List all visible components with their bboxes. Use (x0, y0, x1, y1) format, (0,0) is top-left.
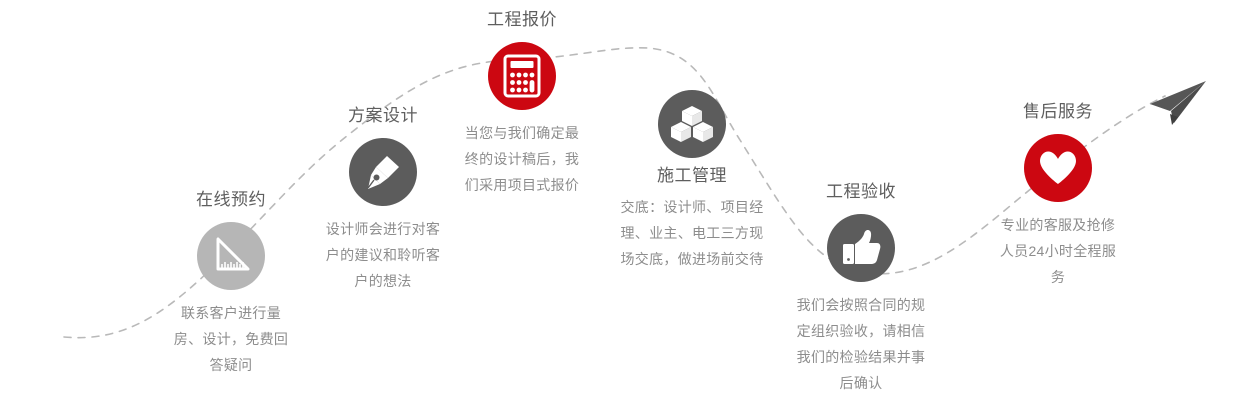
step-4-icon-badge[interactable] (658, 90, 726, 158)
step-4-desc-line: 理、业主、电工三方现 (597, 220, 787, 246)
step-3-desc-line: 当您与我们确定最 (427, 120, 617, 146)
process-step-5[interactable]: 工程验收 我们会按照合同的规 定组织验收，请相信 我们的检验结果并事 后确认 (766, 180, 956, 396)
step-1-desc-line: 答疑问 (136, 352, 326, 378)
fountain-pen-nib-icon (363, 152, 403, 192)
paper-plane-icon (1148, 78, 1210, 130)
step-5-title: 工程验收 (766, 180, 956, 204)
step-3-desc-line: 们采用项目式报价 (427, 172, 617, 198)
step-3-desc-line: 终的设计稿后，我 (427, 146, 617, 172)
step-4-title: 施工管理 (597, 164, 787, 188)
step-2-description: 设计师会进行对客 户的建议和聆听客 户的想法 (288, 216, 478, 294)
step-1-icon-badge[interactable] (197, 222, 265, 290)
thumbs-up-icon (840, 227, 882, 269)
process-step-3[interactable]: 工程报价 (427, 8, 617, 198)
step-5-desc-line: 定组织验收，请相信 (766, 318, 956, 344)
step-5-description: 我们会按照合同的规 定组织验收，请相信 我们的检验结果并事 后确认 (766, 292, 956, 396)
step-6-desc-line: 务 (963, 264, 1153, 290)
step-1-desc-line: 联系客户进行量 (136, 300, 326, 326)
step-5-desc-line: 后确认 (766, 370, 956, 396)
step-4-description: 交底：设计师、项目经 理、业主、电工三方现 场交底，做进场前交待 (597, 194, 787, 272)
step-6-icon-badge[interactable] (1024, 134, 1092, 202)
step-6-description: 专业的客服及抢修 人员24小时全程服 务 (963, 212, 1153, 290)
step-6-desc-line: 人员24小时全程服 (963, 238, 1153, 264)
process-step-6[interactable]: 售后服务 专业的客服及抢修 人员24小时全程服 务 (963, 100, 1153, 290)
step-2-desc-line: 设计师会进行对客 (288, 216, 478, 242)
step-1-description: 联系客户进行量 房、设计，免费回 答疑问 (136, 300, 326, 378)
stacked-cubes-icon (671, 104, 713, 144)
step-3-title: 工程报价 (427, 8, 617, 32)
step-2-icon-badge[interactable] (349, 138, 417, 206)
step-2-desc-line: 户的建议和聆听客 (288, 242, 478, 268)
triangle-ruler-icon (210, 235, 252, 277)
step-2-desc-line: 户的想法 (288, 268, 478, 294)
heart-icon (1038, 149, 1078, 187)
step-4-desc-line: 场交底，做进场前交待 (597, 246, 787, 272)
step-5-icon-badge[interactable] (827, 214, 895, 282)
step-6-title: 售后服务 (963, 100, 1153, 124)
step-5-desc-line: 我们的检验结果并事 (766, 344, 956, 370)
step-6-desc-line: 专业的客服及抢修 (963, 212, 1153, 238)
step-5-desc-line: 我们会按照合同的规 (766, 292, 956, 318)
process-step-4[interactable]: 施工管理 交底：设计师、项目经 理、业主、电工三方现 场交底，做进场前交待 (597, 90, 787, 272)
step-1-desc-line: 房、设计，免费回 (136, 326, 326, 352)
step-3-description: 当您与我们确定最 终的设计稿后，我 们采用项目式报价 (427, 120, 617, 198)
step-4-desc-line: 交底：设计师、项目经 (597, 194, 787, 220)
calculator-icon (502, 54, 542, 98)
step-3-icon-badge[interactable] (488, 42, 556, 110)
process-flow-diagram: 在线预约 联系客户进行量 房、设计，免费回 答疑问 (0, 0, 1245, 402)
